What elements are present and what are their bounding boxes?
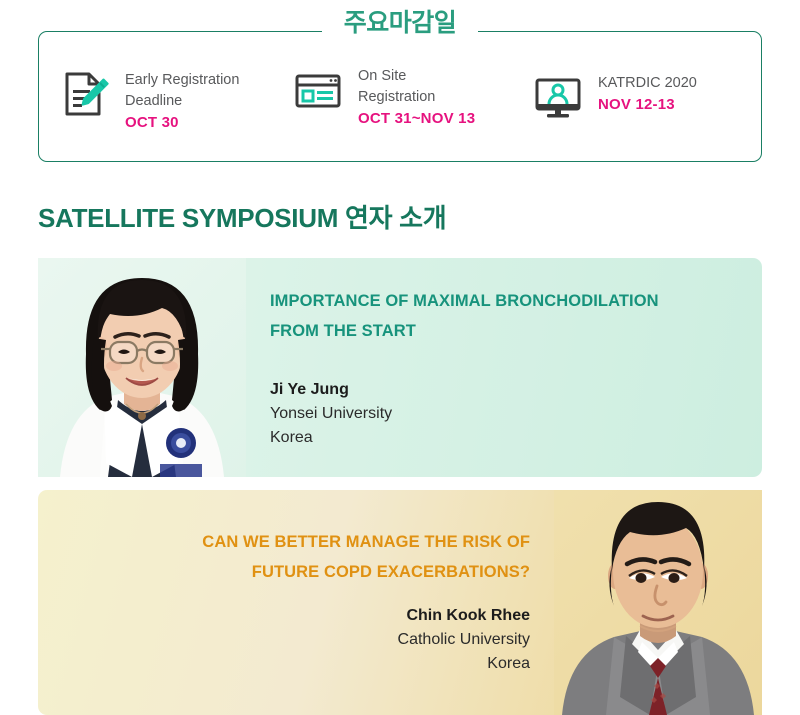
page-title: SATELLITE SYMPOSIUM 연자 소개 — [38, 198, 446, 235]
deadline-date: OCT 30 — [125, 114, 179, 131]
browser-window-icon — [292, 64, 344, 116]
talk-title-line2: FROM THE START — [270, 322, 416, 340]
key-deadlines-title-text: 주요마감일 — [322, 8, 479, 38]
deadline-text-block: Early Registration Deadline OCT 30 — [125, 68, 239, 134]
speaker-country: Korea — [270, 426, 742, 450]
deadline-item-early-registration: Early Registration Deadline OCT 30 — [59, 68, 239, 134]
talk-title-line1: IMPORTANCE OF MAXIMAL BRONCHODILATION — [270, 292, 659, 310]
speaker-country: Korea — [58, 652, 530, 676]
speaker-text-block: CAN WE BETTER MANAGE THE RISK OF FUTURE … — [58, 490, 530, 715]
speaker-photo-chin-kook-rhee — [554, 490, 762, 715]
speaker-affiliation: Yonsei University — [270, 402, 742, 426]
deadline-label-line1: On Site — [358, 68, 406, 84]
key-deadlines-title: 주요마감일 — [0, 8, 800, 38]
deadline-items-row: Early Registration Deadline OCT 30 — [39, 32, 761, 161]
talk-title-line1: CAN WE BETTER MANAGE THE RISK OF — [202, 533, 530, 551]
deadline-date: OCT 31~NOV 13 — [358, 110, 475, 127]
speaker-meta: Ji Ye Jung Yonsei University Korea — [270, 378, 742, 450]
deadline-item-onsite-registration: On Site Registration OCT 31~NOV 13 — [292, 64, 475, 130]
talk-title: IMPORTANCE OF MAXIMAL BRONCHODILATION FR… — [270, 286, 742, 346]
monitor-person-icon — [532, 71, 584, 123]
deadline-label-line2: Deadline — [125, 93, 182, 109]
deadline-text-block: On Site Registration OCT 31~NOV 13 — [358, 64, 475, 130]
deadline-label-line2: Registration — [358, 89, 435, 105]
speaker-name: Chin Kook Rhee — [58, 604, 530, 628]
deadline-item-katrdic-2020: KATRDIC 2020 NOV 12-13 — [532, 71, 697, 123]
deadline-date: NOV 12-13 — [598, 96, 675, 113]
speaker-meta: Chin Kook Rhee Catholic University Korea — [58, 604, 530, 676]
deadline-text-block: KATRDIC 2020 NOV 12-13 — [598, 71, 697, 116]
deadline-label-line1: Early Registration — [125, 72, 239, 88]
speaker-text-block: IMPORTANCE OF MAXIMAL BRONCHODILATION FR… — [270, 258, 742, 477]
document-pencil-icon — [59, 68, 111, 120]
speaker-affiliation: Catholic University — [58, 628, 530, 652]
speaker-name: Ji Ye Jung — [270, 378, 742, 402]
talk-title-line2: FUTURE COPD EXACERBATIONS? — [252, 563, 530, 581]
deadline-label-line1: KATRDIC 2020 — [598, 75, 697, 91]
poster-page: Early Registration Deadline OCT 30 — [0, 0, 800, 715]
talk-title: CAN WE BETTER MANAGE THE RISK OF FUTURE … — [58, 527, 530, 587]
speaker-photo-ji-ye-jung — [38, 258, 246, 477]
key-deadlines-card: Early Registration Deadline OCT 30 — [38, 31, 762, 162]
